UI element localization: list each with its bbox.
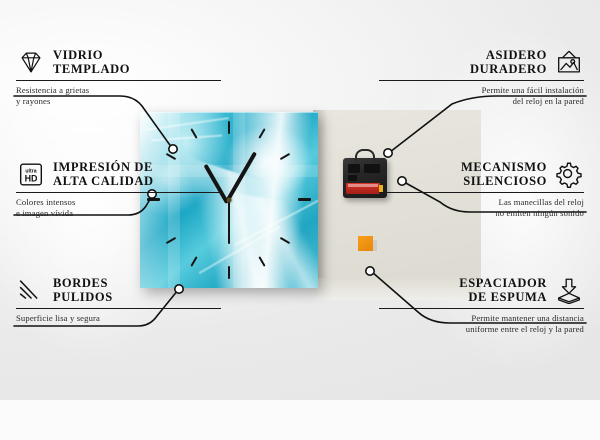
feature-mecanismo-silencioso: MECANISMO SILENCIOSO Las manecillas del … bbox=[379, 160, 584, 219]
foam-spacer-icon bbox=[554, 277, 584, 304]
feature-bordes-pulidos: BORDES PULIDOS Superficie lisa y segura bbox=[16, 276, 221, 324]
feature-divider bbox=[16, 192, 221, 193]
feature-desc-line2: uniforme entre el reloj y la pared bbox=[379, 324, 584, 335]
tick-6 bbox=[228, 266, 230, 279]
second-hand bbox=[228, 200, 230, 244]
mechanism-battery bbox=[346, 183, 380, 194]
feature-desc-line1: Permite una fácil instalación bbox=[379, 85, 584, 96]
mechanism-hanger-hook bbox=[355, 149, 375, 161]
battery-label-stripe bbox=[348, 184, 378, 187]
feature-header: VIDRIO TEMPLADO bbox=[16, 48, 221, 76]
feature-desc-line2: no emiten ningún sonido bbox=[379, 208, 584, 219]
feature-desc-line1: Permite mantener una distancia bbox=[379, 313, 584, 324]
feature-asidero-duradero: ASIDERO DURADERO Permite una fácil insta… bbox=[379, 48, 584, 107]
feature-espaciador-de-espuma: ESPACIADOR DE ESPUMA Permite mantener un… bbox=[379, 276, 584, 335]
feature-desc-line1: Resistencia a grietas bbox=[16, 85, 221, 96]
diamond-icon bbox=[16, 49, 46, 76]
feature-divider bbox=[16, 80, 221, 81]
feature-title: VIDRIO TEMPLADO bbox=[53, 48, 130, 76]
foam-spacer-sample bbox=[358, 236, 373, 251]
svg-text:HD: HD bbox=[25, 173, 38, 183]
mechanism-detail-3 bbox=[348, 175, 357, 181]
diagonal-lines-icon bbox=[16, 277, 46, 304]
feature-header: ESPACIADOR DE ESPUMA bbox=[379, 276, 584, 304]
feature-desc-line2: e imagen vívida bbox=[16, 208, 221, 219]
feature-header: MECANISMO SILENCIOSO bbox=[379, 160, 584, 188]
feature-title: BORDES PULIDOS bbox=[53, 276, 113, 304]
ultra-hd-icon: ultra HD bbox=[16, 161, 46, 188]
feature-divider bbox=[379, 308, 584, 309]
feature-impresion-alta-calidad: ultra HD IMPRESIÓN DE ALTA CALIDAD Color… bbox=[16, 160, 221, 219]
feature-desc-line1: Colores intensos bbox=[16, 197, 221, 208]
feature-title: ASIDERO DURADERO bbox=[470, 48, 547, 76]
clock-center-pin bbox=[227, 198, 232, 203]
mechanism-detail-2 bbox=[364, 164, 380, 173]
feature-desc-line2: y rayones bbox=[16, 96, 221, 107]
picture-hanger-icon bbox=[554, 49, 584, 76]
mechanism-detail-1 bbox=[348, 164, 360, 173]
feature-vidrio-templado: VIDRIO TEMPLADO Resistencia a grietas y … bbox=[16, 48, 221, 107]
infographic-canvas: VIDRIO TEMPLADO Resistencia a grietas y … bbox=[0, 0, 600, 400]
feature-divider bbox=[379, 80, 584, 81]
feature-header: BORDES PULIDOS bbox=[16, 276, 221, 304]
tick-3 bbox=[298, 198, 311, 201]
feature-header: ASIDERO DURADERO bbox=[379, 48, 584, 76]
feature-title: IMPRESIÓN DE ALTA CALIDAD bbox=[53, 160, 154, 188]
feature-divider bbox=[16, 308, 221, 309]
feature-desc-line1: Superficie lisa y segura bbox=[16, 313, 221, 324]
feature-desc-line2: del reloj en la pared bbox=[379, 96, 584, 107]
feature-title: MECANISMO SILENCIOSO bbox=[461, 160, 547, 188]
feature-desc-line1: Las manecillas del reloj bbox=[379, 197, 584, 208]
feature-header: ultra HD IMPRESIÓN DE ALTA CALIDAD bbox=[16, 160, 221, 188]
feature-title: ESPACIADOR DE ESPUMA bbox=[459, 276, 547, 304]
gear-icon bbox=[554, 161, 584, 188]
tick-12 bbox=[228, 121, 230, 134]
feature-divider bbox=[379, 192, 584, 193]
